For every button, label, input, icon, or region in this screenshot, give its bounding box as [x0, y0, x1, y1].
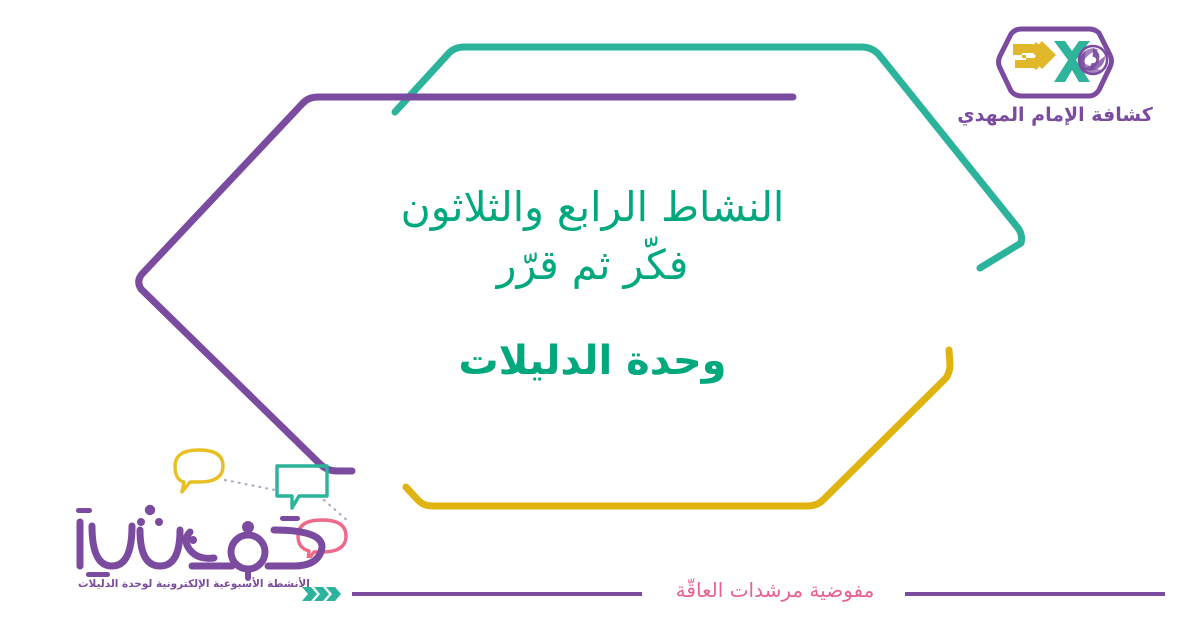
triple-chevron-icon [302, 583, 350, 605]
footer-rule-left [352, 592, 642, 596]
emblem-gold-zigzag [1013, 41, 1056, 70]
bubble-connector-1 [225, 480, 275, 490]
page-subtitle: وحدة الدليلات [0, 338, 1185, 384]
footer-rule-right [905, 592, 1165, 596]
title-line-1: النشاط الرابع والثلاثون [0, 178, 1185, 236]
hexagon-scouts-emblem-icon [995, 24, 1115, 102]
jamaatuna-wordmark-icon [62, 496, 362, 584]
speech-bubble-yellow-icon [175, 450, 223, 492]
subtitle-line-1: وحدة الدليلات [0, 338, 1185, 384]
footer: مفوضية مرشدات العاقّة [0, 583, 1185, 605]
page-title: النشاط الرابع والثلاثون فكّر ثم قرّر [0, 178, 1185, 294]
scouts-logo: كشافة الإمام المهدي [947, 24, 1163, 126]
footer-label: مفوضية مرشدات العاقّة [660, 578, 890, 602]
scouts-logo-label: كشافة الإمام المهدي [947, 104, 1163, 126]
title-line-2: فكّر ثم قرّر [0, 236, 1185, 294]
poster-canvas: النشاط الرابع والثلاثون فكّر ثم قرّر وحد… [0, 0, 1185, 642]
emblem-purple-spiral [1079, 46, 1107, 74]
